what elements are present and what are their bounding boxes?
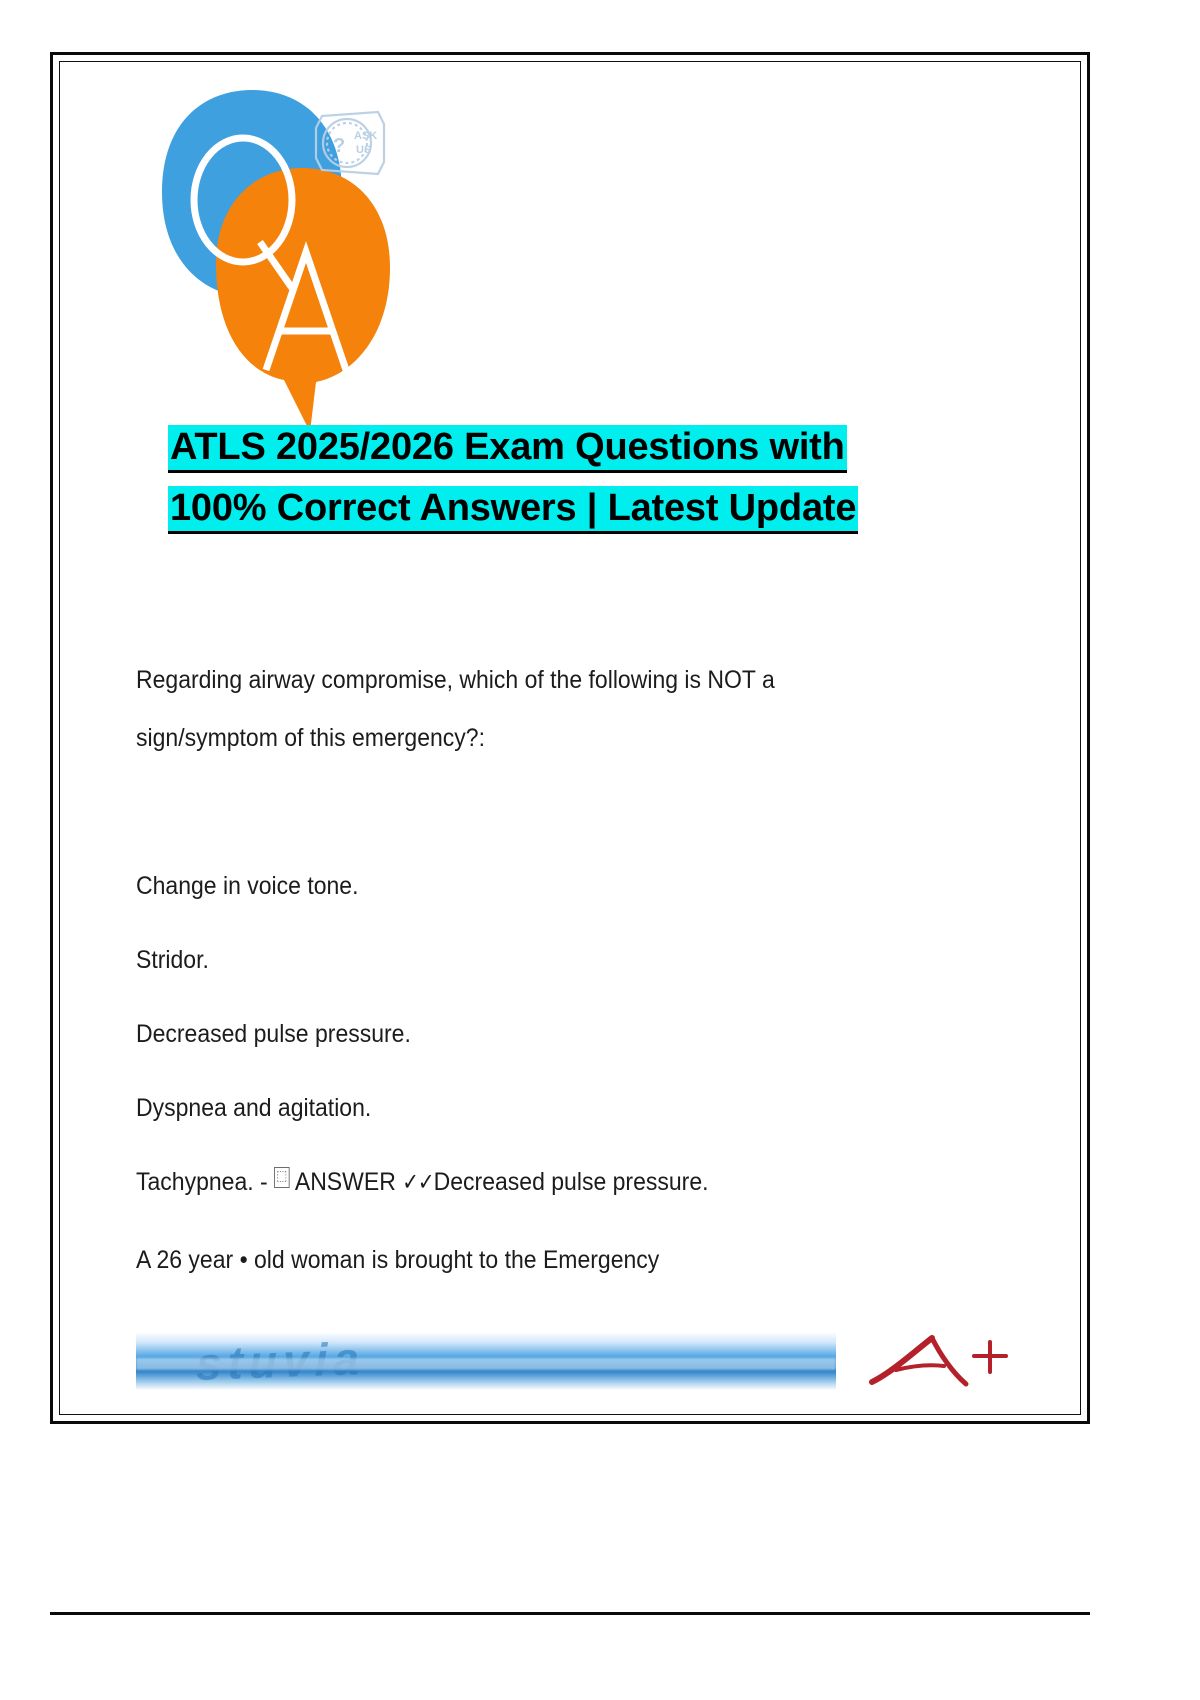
- footer-watermark: stuvia: [136, 1326, 1016, 1396]
- option-item: Stridor.: [136, 942, 946, 978]
- document-body: Regarding airway compromise, which of th…: [136, 662, 1016, 1278]
- next-page-edge: [50, 1612, 1090, 1615]
- document-page: ? ASK US ATLS 2025/2026 Exam Questions w…: [50, 52, 1090, 1424]
- answer-text: Decreased pulse pressure.: [434, 1168, 709, 1196]
- check-mark-icon: ✓✓: [402, 1168, 433, 1196]
- title-line-2: 100% Correct Answers | Latest Update: [168, 478, 1018, 539]
- svg-text:ASK: ASK: [354, 130, 377, 142]
- answer-line: Tachypnea. - ⬚ ANSWER ✓✓Decreased pulse …: [136, 1164, 946, 1200]
- option-item: Decreased pulse pressure.: [136, 1016, 946, 1052]
- answer-prefix: Tachypnea. -: [136, 1168, 274, 1196]
- title-line-1: ATLS 2025/2026 Exam Questions with: [168, 417, 1018, 478]
- question-line-1: Regarding airway compromise, which of th…: [136, 662, 946, 698]
- next-question-line: A 26 year • old woman is brought to the …: [136, 1242, 946, 1278]
- stuvia-watermark-band: stuvia: [136, 1332, 836, 1390]
- watermark-sheen: [136, 1358, 836, 1370]
- question-spacer: [136, 698, 1016, 720]
- option-item: Dyspnea and agitation.: [136, 1090, 946, 1126]
- title-line-1-text: ATLS 2025/2026 Exam Questions with: [168, 425, 847, 473]
- document-title: ATLS 2025/2026 Exam Questions with 100% …: [168, 417, 1018, 539]
- answer-label: ANSWER: [290, 1168, 402, 1196]
- title-line-2-text: 100% Correct Answers | Latest Update: [168, 486, 858, 534]
- svg-text:US: US: [356, 144, 371, 156]
- qa-speech-bubbles-logo: ? ASK US: [140, 82, 400, 432]
- option-item: Change in voice tone.: [136, 868, 946, 904]
- svg-text:?: ?: [333, 135, 345, 157]
- a-plus-grade-mark: [866, 1326, 1016, 1396]
- document-page-inner: ? ASK US ATLS 2025/2026 Exam Questions w…: [59, 61, 1081, 1415]
- missing-glyph-icon: ⬚: [274, 1167, 290, 1188]
- question-line-2: sign/symptom of this emergency?:: [136, 720, 946, 756]
